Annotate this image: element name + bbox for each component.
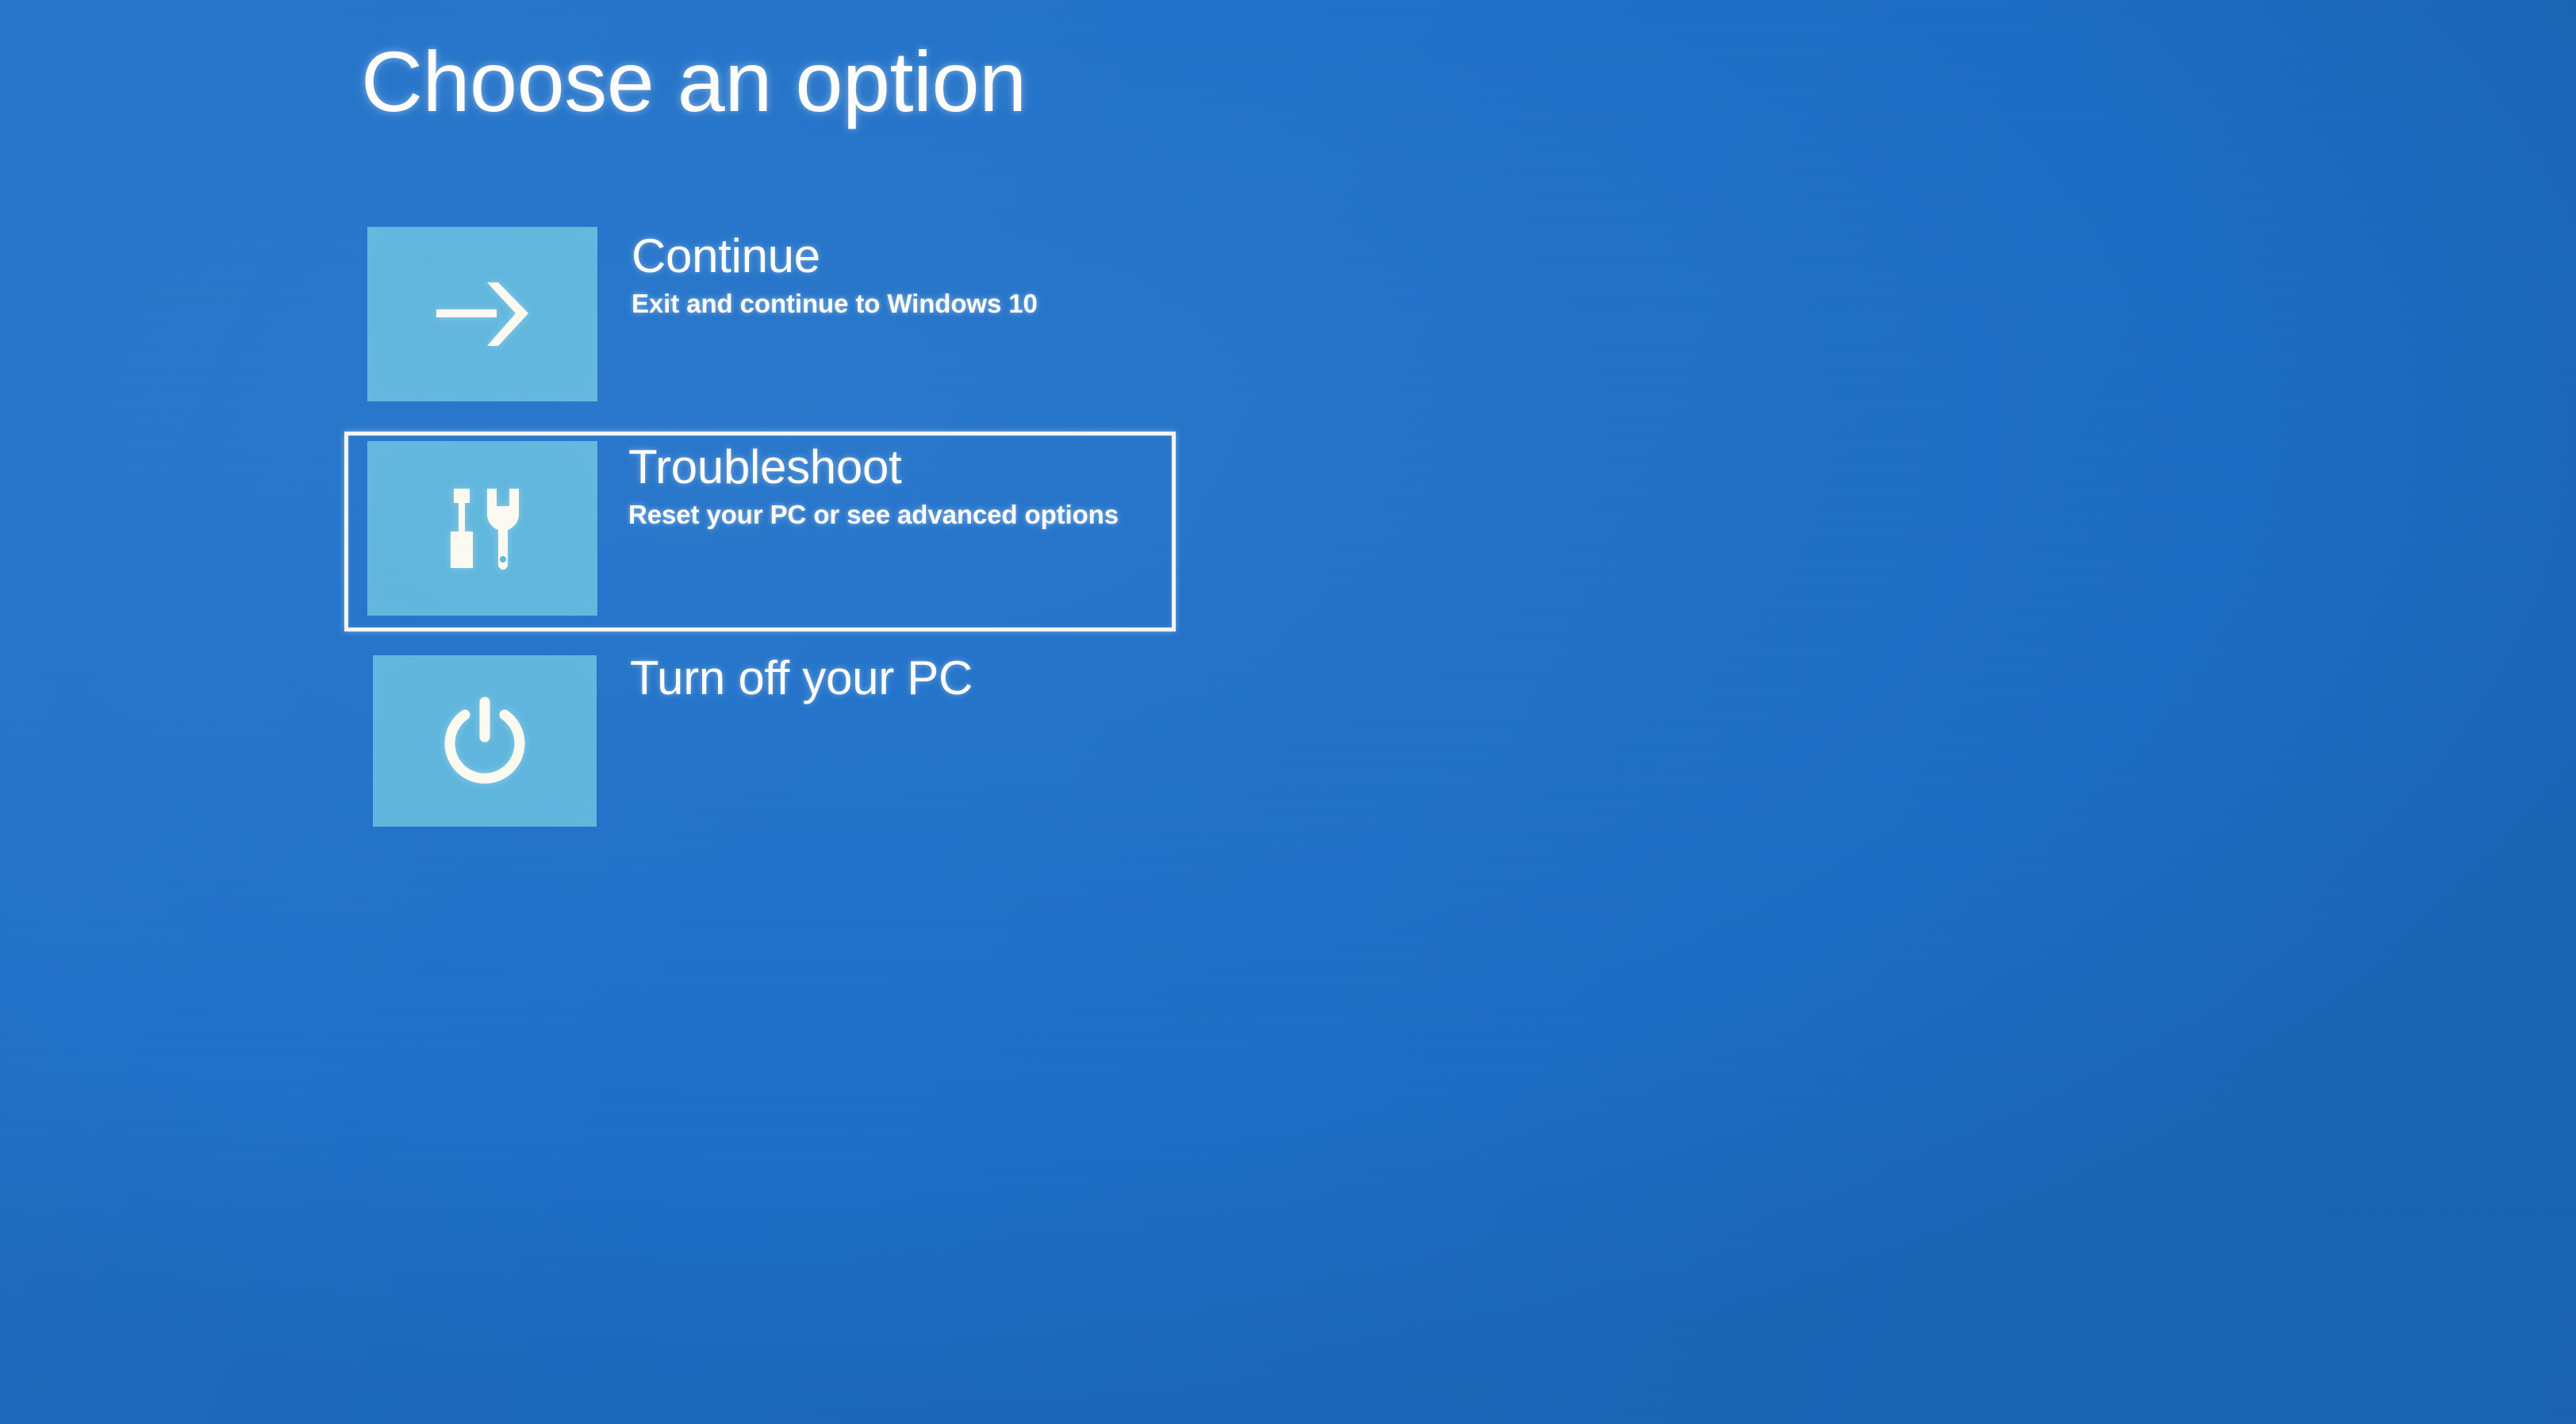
option-troubleshoot-tile[interactable] xyxy=(367,441,597,616)
option-troubleshoot-title: Troubleshoot xyxy=(628,443,1177,492)
windows-recovery-choose-an-option-screen: Choose an option Continue Exit and conti… xyxy=(0,0,2576,1424)
option-continue[interactable]: Continue Exit and continue to Windows 10 xyxy=(367,227,1177,401)
option-continue-tile[interactable] xyxy=(367,227,597,401)
option-troubleshoot[interactable]: Troubleshoot Reset your PC or see advanc… xyxy=(367,441,1177,616)
page-title: Choose an option xyxy=(361,32,1027,131)
option-turn-off-pc-title: Turn off your PC xyxy=(630,654,1182,703)
option-continue-subtitle: Exit and continue to Windows 10 xyxy=(632,290,1177,319)
option-continue-text: Continue Exit and continue to Windows 10 xyxy=(597,227,1177,319)
option-troubleshoot-text: Troubleshoot Reset your PC or see advanc… xyxy=(597,441,1177,530)
arrow-right-icon xyxy=(432,276,533,352)
option-continue-title: Continue xyxy=(632,232,1177,281)
option-turn-off-pc[interactable]: Turn off your PC xyxy=(373,655,1182,830)
option-turn-off-pc-tile[interactable] xyxy=(373,655,597,827)
screwdriver-wrench-icon xyxy=(433,479,532,578)
option-troubleshoot-subtitle: Reset your PC or see advanced options xyxy=(628,501,1177,530)
option-turn-off-pc-text: Turn off your PC xyxy=(597,655,1182,703)
power-icon xyxy=(439,693,531,789)
